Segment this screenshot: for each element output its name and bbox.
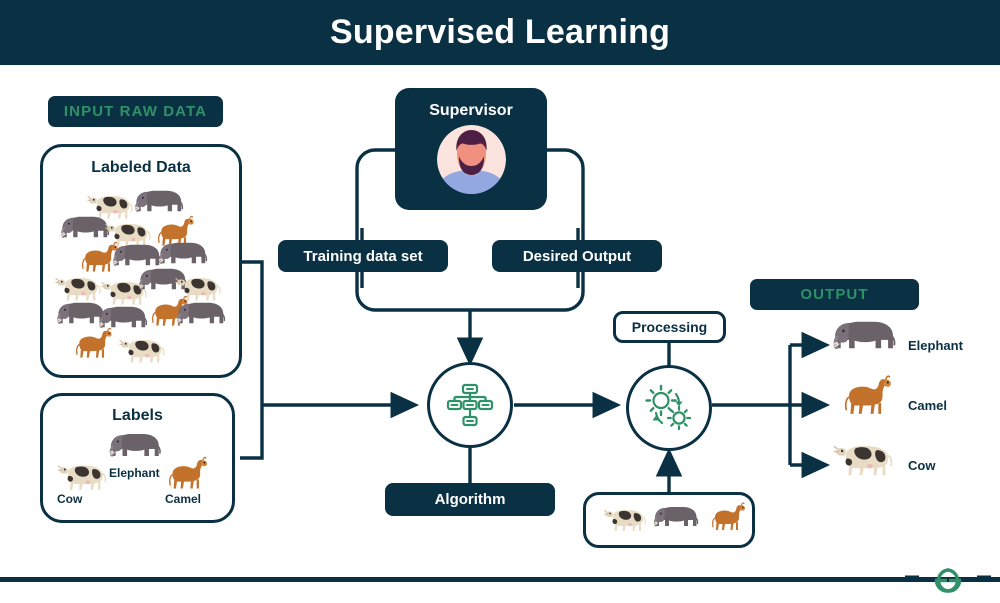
labeled-data-title: Labeled Data bbox=[43, 159, 239, 177]
label-item-camel bbox=[155, 454, 213, 492]
elephant-icon bbox=[650, 500, 700, 533]
test-data-box bbox=[583, 492, 755, 548]
labels-panel: Labels Cow Elephant Camel bbox=[40, 393, 235, 523]
labeled-data-panel: Labeled Data bbox=[40, 144, 242, 378]
label-item-cow bbox=[53, 454, 111, 492]
labels-content: Cow Elephant Camel bbox=[43, 396, 232, 520]
cow-icon bbox=[600, 500, 650, 533]
supervisor-card: Supervisor bbox=[395, 88, 547, 210]
label-caption-camel: Camel bbox=[165, 492, 201, 506]
gears-cycle-icon bbox=[641, 380, 697, 436]
test-data-item-cow bbox=[600, 500, 650, 533]
test-data-item-camel bbox=[700, 500, 750, 533]
camel-icon bbox=[63, 325, 117, 361]
cow-icon bbox=[115, 329, 169, 365]
cow-icon bbox=[53, 454, 111, 492]
desired-output-pill: Desired Output bbox=[492, 240, 662, 272]
hierarchy-tree-icon bbox=[444, 379, 496, 431]
processing-pill: Processing bbox=[613, 311, 726, 343]
labeled-data-item-elephant bbox=[173, 295, 227, 331]
labeled-data-item-cow bbox=[115, 329, 169, 365]
labeled-data-item-camel bbox=[63, 325, 117, 361]
supervisor-title: Supervisor bbox=[395, 102, 547, 120]
algorithm-node bbox=[427, 362, 513, 448]
label-caption-cow: Cow bbox=[57, 492, 82, 506]
camel-icon bbox=[155, 454, 213, 492]
elephant-icon bbox=[173, 295, 227, 331]
bearded-person-avatar-icon bbox=[437, 125, 506, 194]
training-data-set-pill: Training data set bbox=[278, 240, 448, 272]
test-data-row bbox=[586, 495, 752, 545]
processing-node bbox=[626, 365, 712, 451]
algorithm-pill: Algorithm bbox=[385, 483, 555, 516]
camel-icon bbox=[700, 500, 750, 533]
labeled-data-grid bbox=[43, 183, 239, 375]
label-caption-elephant: Elephant bbox=[109, 466, 160, 480]
test-data-item-elephant bbox=[650, 500, 700, 533]
